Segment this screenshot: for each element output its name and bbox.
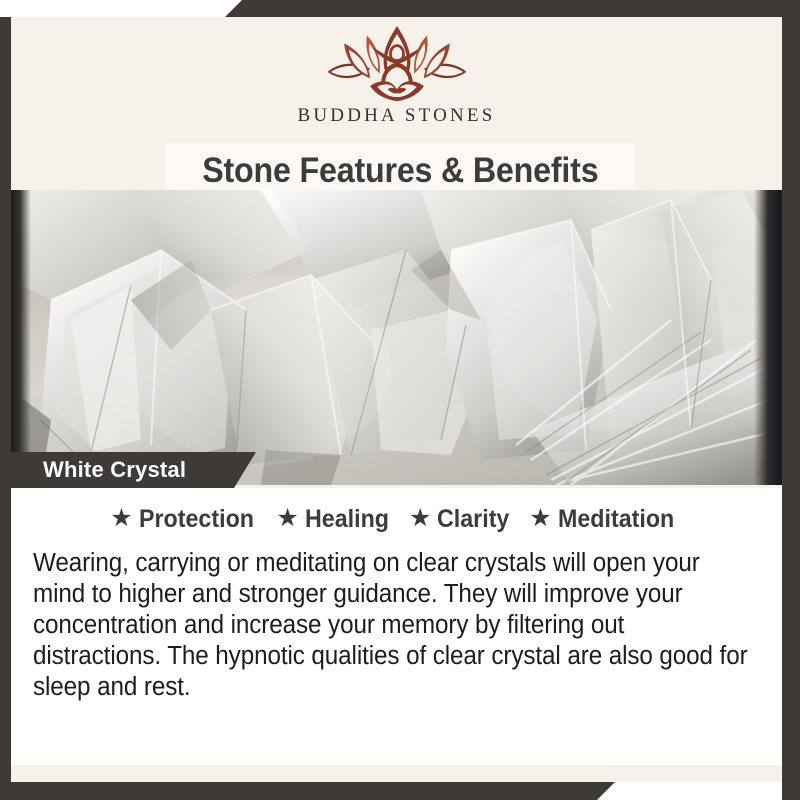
- page-title: Stone Features & Benefits: [202, 151, 598, 191]
- frame-right-accent-bar: [782, 0, 800, 800]
- star-icon: ★: [529, 506, 551, 531]
- benefits-list: ★ Protection ★ Healing ★ Clarity ★ Medit…: [11, 505, 782, 534]
- benefit-item-healing: ★ Healing: [276, 505, 395, 534]
- brand-header: BUDDHA STONES: [11, 17, 782, 141]
- benefit-label: Clarity: [437, 505, 509, 534]
- frame-bottom-accent-bar: [0, 782, 615, 800]
- star-icon: ★: [276, 506, 298, 531]
- stone-name-label: White Crystal: [43, 457, 186, 483]
- lotus-meditation-icon: [317, 23, 477, 105]
- stone-info-panel: ★ Protection ★ Healing ★ Clarity ★ Medit…: [11, 488, 782, 765]
- star-icon: ★: [409, 506, 431, 531]
- stone-name-ribbon: White Crystal: [11, 452, 256, 488]
- benefit-label: Protection: [139, 505, 254, 534]
- stone-benefits-poster: BUDDHA STONES Stone Features & Benefits: [0, 0, 800, 800]
- star-icon: ★: [110, 506, 132, 531]
- benefit-label: Meditation: [558, 505, 674, 534]
- frame-left-accent-bar: [0, 17, 11, 800]
- frame-top-accent-bar: [225, 0, 800, 17]
- benefit-item-clarity: ★ Clarity: [409, 505, 515, 534]
- benefit-item-protection: ★ Protection: [110, 505, 262, 534]
- benefit-item-meditation: ★ Meditation: [529, 505, 682, 534]
- brand-name: BUDDHA STONES: [297, 106, 495, 125]
- benefit-label: Healing: [305, 505, 389, 534]
- stone-description: Wearing, carrying or meditating on clear…: [33, 548, 755, 704]
- crystal-photo: [11, 190, 781, 485]
